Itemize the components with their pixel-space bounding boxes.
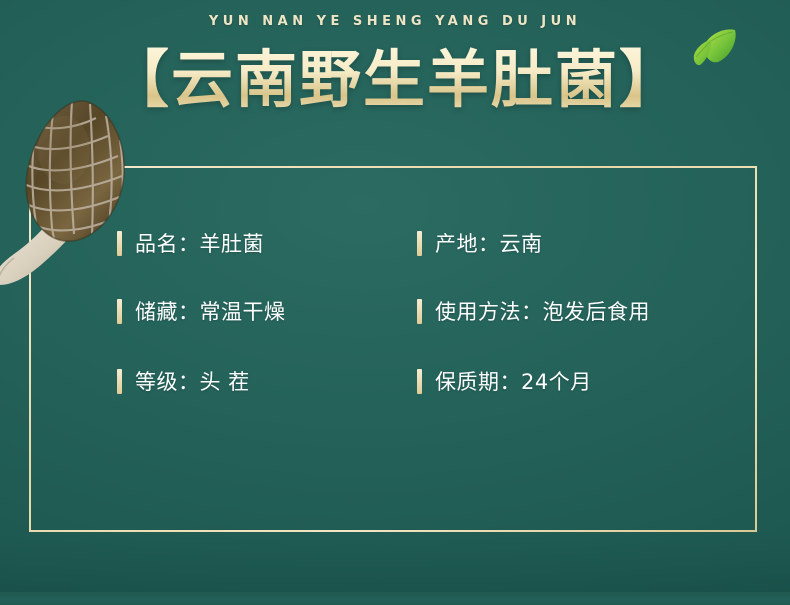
spec-origin: 产地：云南 — [417, 228, 543, 258]
bottom-band — [0, 592, 790, 605]
spec-grade: 等级：头 茬 — [117, 366, 250, 396]
spec-storage: 储藏：常温干燥 — [117, 296, 286, 326]
gold-bar-icon — [117, 299, 122, 324]
gold-bar-icon — [417, 231, 422, 256]
spec-shelf-life: 保质期：24个月 — [417, 366, 592, 396]
gold-bar-icon — [417, 369, 422, 394]
gold-bar-icon — [117, 231, 122, 256]
page-title: 【云南野生羊肚菌】 — [0, 44, 790, 116]
product-detail-banner: YUN NAN YE SHENG YANG DU JUN 【云南野生羊肚菌】 — [0, 0, 790, 605]
pinyin-subtitle: YUN NAN YE SHENG YANG DU JUN — [0, 14, 790, 29]
gold-bar-icon — [417, 299, 422, 324]
spec-product-name: 品名：羊肚菌 — [117, 228, 264, 258]
gold-bar-icon — [117, 369, 122, 394]
bottom-shadow — [0, 532, 790, 592]
spec-usage: 使用方法：泡发后食用 — [417, 296, 650, 326]
spec-list: 品名：羊肚菌 产地：云南 储藏：常温干燥 使用方法：泡发后食用 等级：头 茬 保… — [0, 166, 790, 532]
